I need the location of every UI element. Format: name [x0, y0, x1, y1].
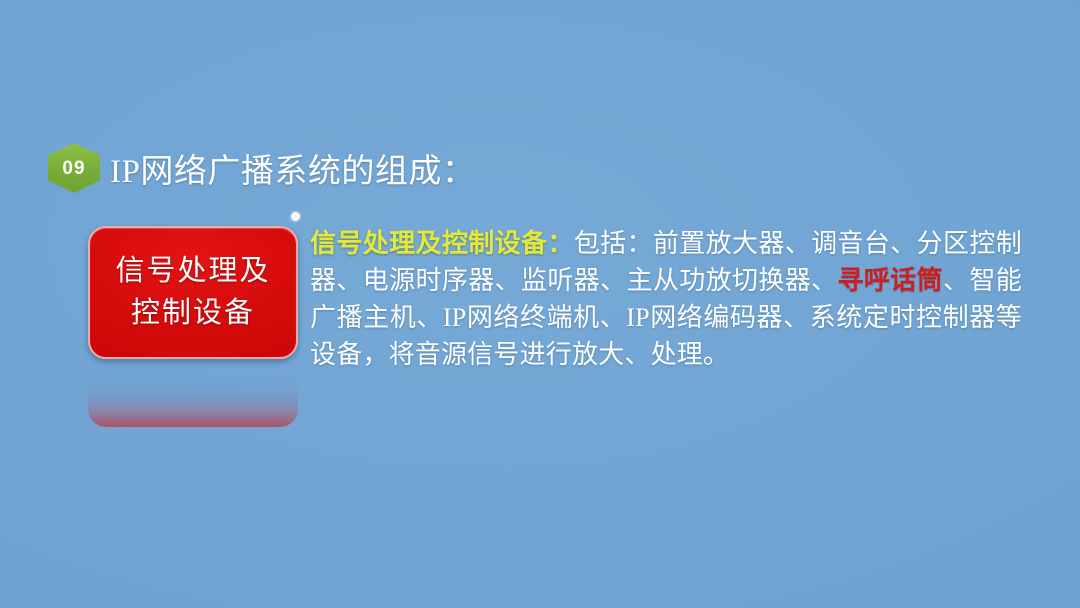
callout-box-reflection — [88, 361, 298, 427]
section-number-label: 09 — [62, 159, 85, 178]
callout-box-group: 信号处理及 控制设备 — [88, 226, 298, 427]
callout-box-line-1: 信号处理及 — [115, 251, 270, 292]
slide-canvas: 09 IP网络广播系统的组成： 信号处理及 控制设备 信号处理及控制设备：包括：… — [0, 0, 1080, 608]
callout-box-line-2: 控制设备 — [131, 293, 255, 334]
body-paragraph: 信号处理及控制设备：包括：前置放大器、调音台、分区控制器、电源时序器、监听器、主… — [310, 226, 1022, 374]
body-highlight-term: 寻呼话筒 — [838, 266, 944, 295]
slide-header: 09 IP网络广播系统的组成： — [48, 143, 475, 193]
section-number-hexagon-icon: 09 — [48, 143, 100, 193]
page-title: IP网络广播系统的组成： — [110, 144, 475, 192]
body-label: 信号处理及控制设备： — [310, 229, 574, 258]
dot-bullet-icon — [291, 212, 300, 221]
callout-box: 信号处理及 控制设备 — [88, 226, 298, 359]
